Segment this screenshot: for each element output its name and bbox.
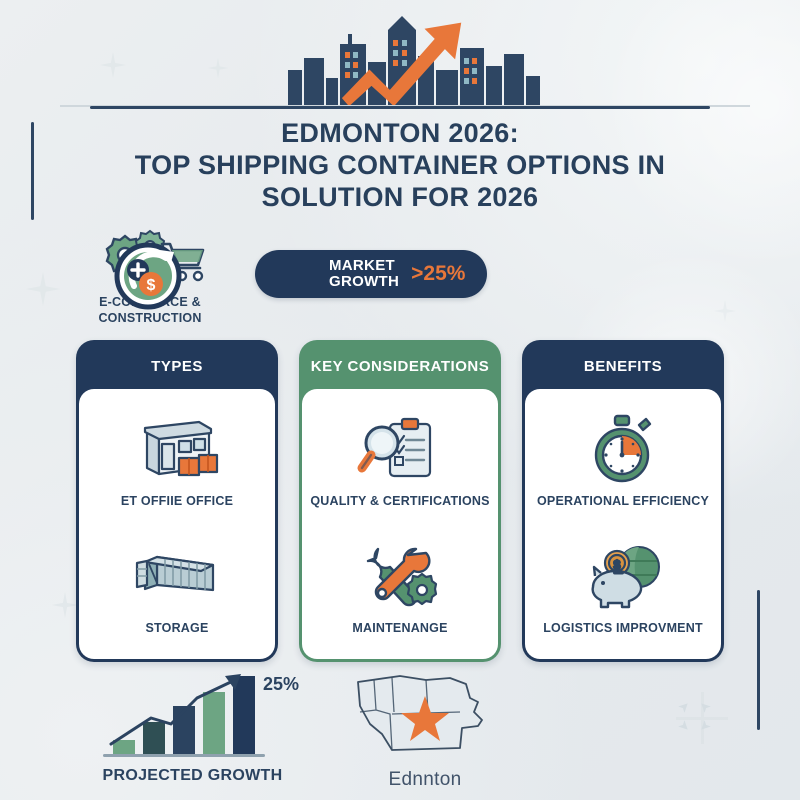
city-skyline-icon [288,16,540,106]
left-accent-line [31,122,34,220]
region-map-icon [330,670,520,762]
container-office-icon [131,412,223,486]
card-benefits-body: OPERATIONAL EFFICIENCY $ [525,389,721,659]
card-types[interactable]: TYPES [76,340,278,662]
card-key-considerations-body: QUALITY & CERTIFICATIONS [302,389,498,659]
card-benefits[interactable]: BENEFITS [522,340,724,662]
card-item-label: ET OFFIIE OFFICE [121,493,233,509]
sparkle-decoration [52,592,78,618]
card-item[interactable]: STORAGE [85,539,269,636]
card-item[interactable]: MAINTENANGE [308,539,492,636]
card-item[interactable]: ET OFFIIE OFFICE [85,412,269,509]
card-key-considerations[interactable]: KEY CONSIDERATIONS [299,340,501,662]
market-growth-value: >25% [411,262,465,286]
magnifier-checklist-icon [356,412,444,486]
card-item[interactable]: QUALITY & CERTIFICATIONS [308,412,492,509]
shipping-container-icon [131,539,223,613]
region-map-block: Ednnton [330,670,520,791]
card-item[interactable]: $ LOGISTICS IMPROVMENT [531,539,715,636]
page-title: EDMONTON 2026: TOP SHIPPING CONTAINER OP… [60,118,740,214]
svg-text:$: $ [147,277,156,294]
right-accent-line [757,590,760,690]
card-types-header: TYPES [79,343,275,389]
stopwatch-icon [585,412,661,486]
card-item-label: LOGISTICS IMPROVMENT [543,620,703,636]
title-line-1: EDMONTON 2026: [60,118,740,150]
stat-row: E-COMMERCE & CONSTRUCTION MARKET GROWTH … [70,228,520,328]
market-growth-badge: MARKET GROWTH >25% [255,250,487,298]
wrench-gear-icon [358,539,442,613]
piggy-bank-globe-icon: $ [579,539,667,613]
projected-growth-chart: 25% PROJECTED GROWTH [85,672,300,785]
title-line-2: TOP SHIPPING CONTAINER OPTIONS IN [60,150,740,182]
chart-caption: PROJECTED GROWTH [85,767,300,785]
title-line-3: SOLUTION FOR 2026 [60,182,740,214]
card-item-label: STORAGE [146,620,209,636]
card-item-label: OPERATIONAL EFFICIENCY [537,493,709,509]
growth-bar-chart: 25% [85,672,300,760]
header-artwork [0,0,800,112]
map-caption: Ednnton [330,769,520,791]
header-divider-rule [90,106,710,109]
crosshair-watermark [676,692,728,744]
chart-value-label: 25% [263,674,299,694]
infographic-poster: EDMONTON 2026: TOP SHIPPING CONTAINER OP… [0,0,800,800]
card-key-considerations-header: KEY CONSIDERATIONS [302,343,498,389]
dollar-growth-circle-icon: $ [108,234,188,314]
right-accent-line-lower [757,680,760,730]
card-benefits-header: BENEFITS [525,343,721,389]
sparkle-decoration [26,272,60,306]
card-item-label: QUALITY & CERTIFICATIONS [310,493,489,509]
card-types-body: ET OFFIIE OFFICE [79,389,275,659]
market-growth-label: MARKET GROWTH [329,258,399,291]
card-item[interactable]: OPERATIONAL EFFICIENCY [531,412,715,509]
card-item-label: MAINTENANGE [352,620,447,636]
